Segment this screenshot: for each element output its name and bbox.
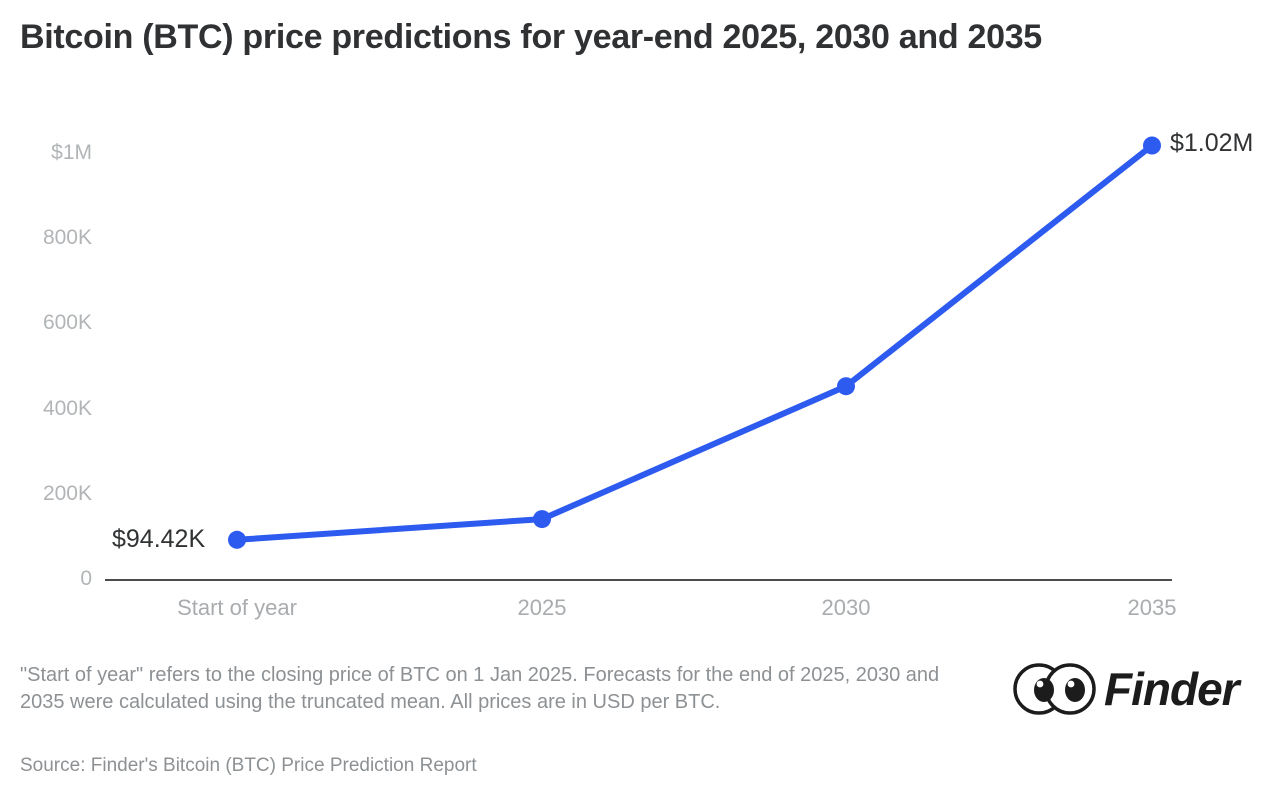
series-point[interactable]: [1143, 137, 1161, 155]
series-point-group: [228, 137, 1161, 549]
series-point[interactable]: [837, 377, 855, 395]
series-point[interactable]: [533, 510, 551, 528]
plot-area: $1M 800K 600K 400K 200K 0 Start of year …: [0, 0, 1280, 640]
finder-logo: Finder: [1008, 663, 1270, 715]
source-text: Source: Finder's Bitcoin (BTC) Price Pre…: [20, 753, 980, 778]
footnote-text: "Start of year" refers to the closing pr…: [20, 662, 980, 716]
data-label-2035: $1.02M: [1170, 129, 1253, 158]
finder-logo-svg: Finder: [1008, 663, 1270, 715]
finder-wordmark: Finder: [1104, 663, 1242, 715]
series-point[interactable]: [228, 531, 246, 549]
series-line: [237, 146, 1152, 540]
data-label-start-of-year: $94.42K: [112, 525, 205, 554]
chart-card: Bitcoin (BTC) price predictions for year…: [0, 0, 1280, 795]
eyes-icon: [1015, 665, 1094, 713]
